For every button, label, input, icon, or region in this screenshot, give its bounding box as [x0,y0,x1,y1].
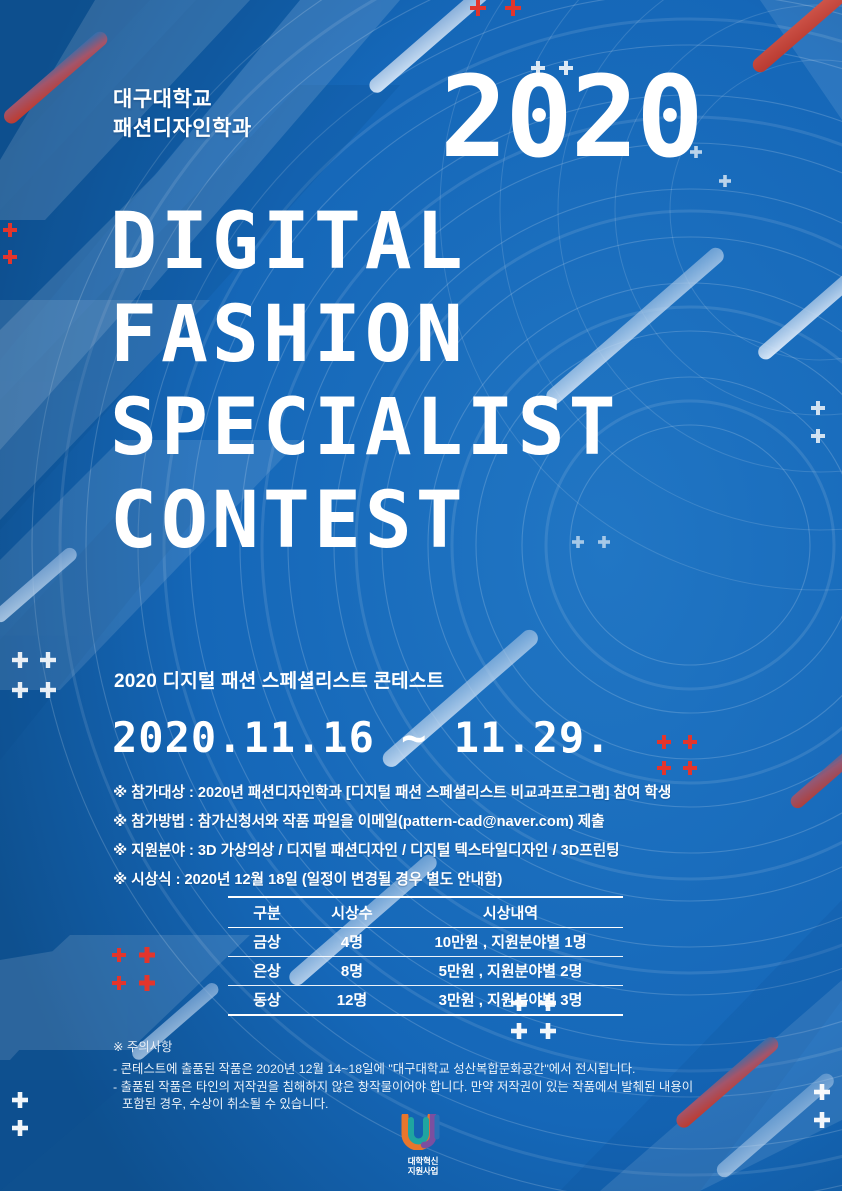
korean-subtitle: 2020 디지털 패션 스페셜리스트 콘테스트 [114,666,444,693]
title-line-contest: CONTEST [110,484,730,559]
cell-category: 금상 [228,928,306,957]
title-line-fashion: FASHION [110,298,730,373]
table-header-row: 구분 시상수 시상내역 [228,897,623,928]
notes-section: ※ 주의사항 - 콘테스트에 출품된 작품은 2020년 12월 14~18일에… [113,1037,813,1114]
cell-count: 4명 [306,928,398,957]
date-range: 2020.11.16 ~ 11.29. [112,713,611,762]
bullet-award-ceremony: ※ 시상식 : 2020년 12월 18일 (일정이 변경될 경우 별도 안내함… [113,873,793,888]
note-copyright-cont: 포함된 경우, 수상이 취소될 수 있습니다. [113,1096,813,1114]
table-row: 동상 12명 3만원 , 지원분야별 3명 [228,986,623,1016]
title-line-specialist: SPECIALIST [110,391,730,466]
column-header-details: 시상내역 [398,897,623,928]
bullet-how-to-apply: ※ 참가방법 : 참가신청서와 작품 파일을 이메일(pattern-cad@n… [113,815,793,830]
notes-heading: ※ 주의사항 [113,1037,813,1055]
cell-details: 5만원 , 지원분야별 2명 [398,957,623,986]
cell-category: 은상 [228,957,306,986]
detail-bullet-list: ※ 참가대상 : 2020년 패션디자인학과 [디지털 패션 스페셜리스트 비교… [113,786,793,902]
cell-count: 12명 [306,986,398,1016]
awards-table: 구분 시상수 시상내역 금상 4명 10만원 , 지원분야별 1명 은상 8명 … [228,896,623,1016]
year-heading: 2020 [440,62,702,174]
note-copyright: - 출품된 작품은 타인의 저작권을 침해하지 않은 창작물이어야 합니다. 만… [113,1079,813,1097]
university-department-label: 대구대학교 패션디자인학과 [113,86,252,144]
cell-count: 8명 [306,957,398,986]
note-exhibition: - 콘테스트에 출품된 작품은 2020년 12월 14~18일에 "대구대학교… [113,1061,813,1079]
logo-caption: 대학혁신 지원사업 [397,1156,449,1176]
cell-category: 동상 [228,986,306,1016]
main-title: DIGITAL FASHION SPECIALIST CONTEST [110,205,730,559]
bullet-categories: ※ 지원분야 : 3D 가상의상 / 디지털 패션디자인 / 디지털 텍스타일디… [113,844,793,859]
title-line-digital: DIGITAL [110,205,730,280]
university-innovation-u-icon [397,1114,449,1150]
poster-canvas: 대구대학교 패션디자인학과 2020 DIGITAL FASHION SPECI… [0,0,842,1191]
cell-details: 10만원 , 지원분야별 1명 [398,928,623,957]
cell-details: 3만원 , 지원분야별 3명 [398,986,623,1016]
bullet-participants: ※ 참가대상 : 2020년 패션디자인학과 [디지털 패션 스페셜리스트 비교… [113,786,793,801]
table-row: 은상 8명 5만원 , 지원분야별 2명 [228,957,623,986]
sponsor-logo: 대학혁신 지원사업 [397,1114,449,1176]
table-row: 금상 4명 10만원 , 지원분야별 1명 [228,928,623,957]
column-header-category: 구분 [228,897,306,928]
column-header-count: 시상수 [306,897,398,928]
